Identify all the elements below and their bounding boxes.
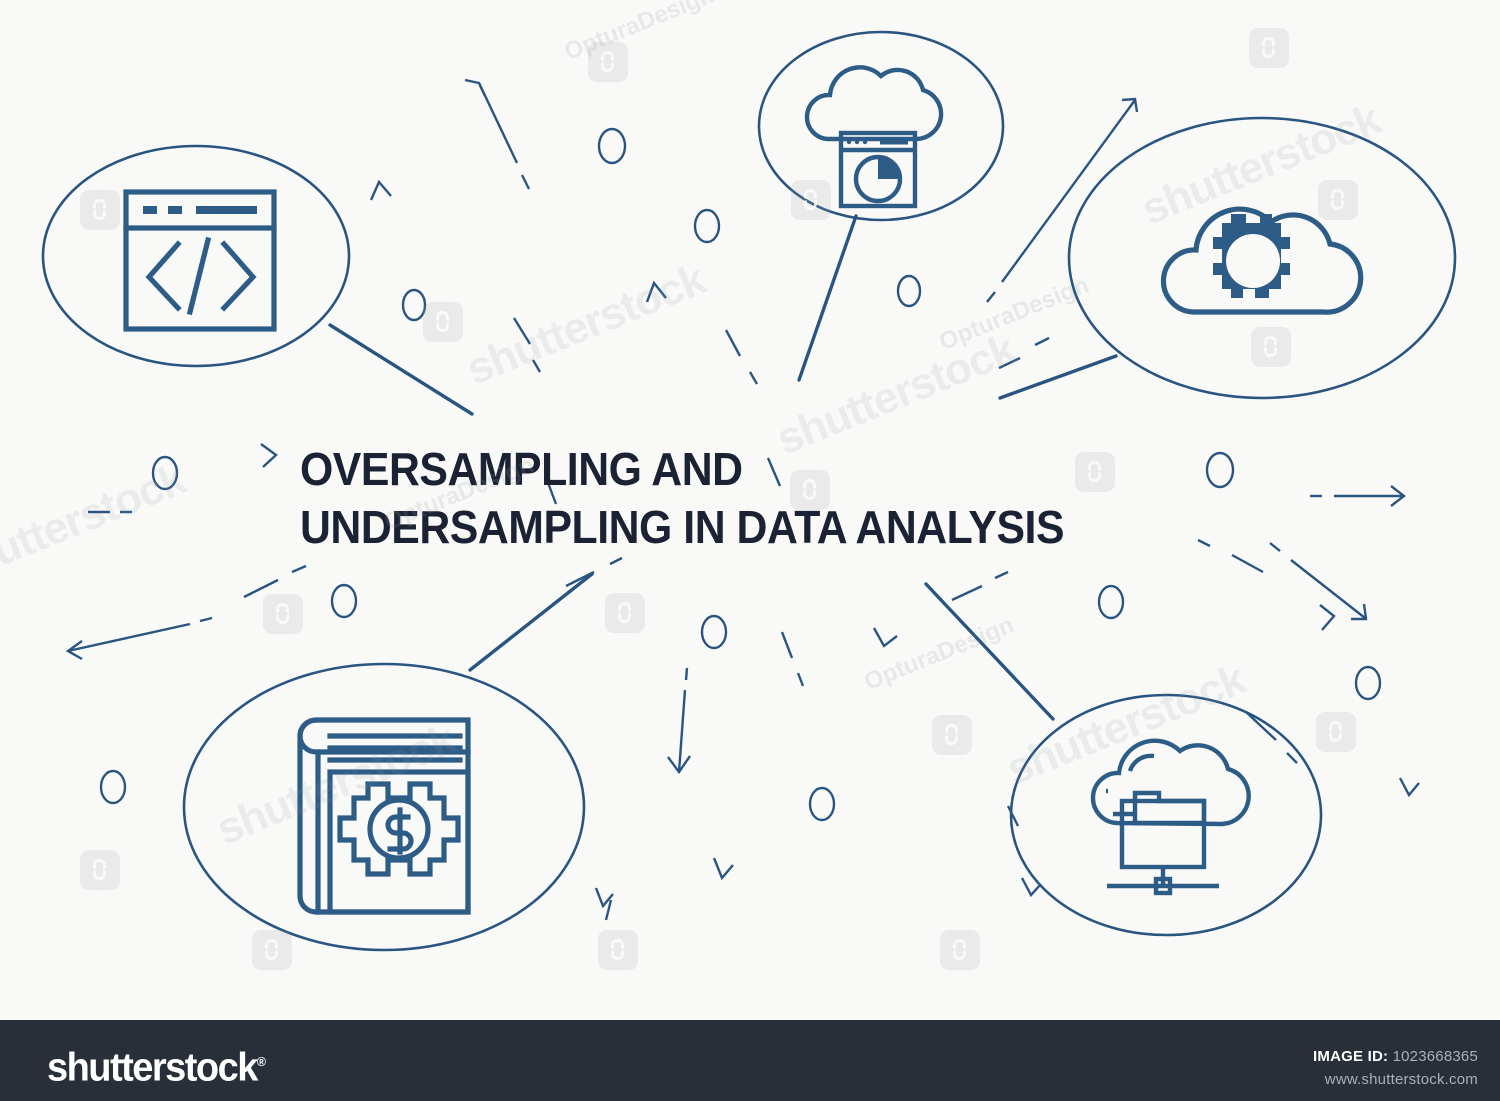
node-book-finance[interactable] [184,664,584,950]
connector-analytics-to-center [799,216,856,380]
cloud-analytics-icon [807,67,941,206]
arrow-down-right [1270,543,1366,619]
cloud-gear-icon [1163,209,1360,312]
logo-wordmark: shutterstock [47,1045,257,1089]
node-ellipse-cloud-analytics [759,32,1003,220]
node-cloud-analytics[interactable] [759,32,1003,220]
arrow-up-right-top [987,99,1137,302]
book-gear-dollar-icon [300,720,468,912]
illustration-svg: .el { fill:none; stroke:#2a5580; stroke-… [0,0,1500,1020]
arrow-left-bottom [68,618,212,659]
website-url: www.shutterstock.com [1313,1068,1478,1092]
arrow-down-center [668,668,690,772]
node-ellipse-cloud-storage [1011,695,1321,935]
arrow-right-mid [1310,486,1404,506]
node-cloud-settings[interactable] [1069,118,1455,398]
image-id-value: 1023668365 [1393,1048,1478,1065]
footer-bar: shutterstock® IMAGE ID: 1023668365 www.s… [0,1020,1500,1101]
cloud-folder-network-icon [1093,741,1249,893]
shutterstock-logo: shutterstock® [47,1040,266,1089]
illustration-canvas: .el { fill:none; stroke:#2a5580; stroke-… [0,0,1500,1020]
decorative-circles [101,129,1380,820]
decorative-arrows [68,80,1404,772]
node-cloud-storage[interactable] [1011,695,1321,935]
decorative-dashes [88,318,1297,920]
connector-storage-to-center [926,584,1053,719]
connector-code-to-center [330,325,472,414]
image-id-label: IMAGE ID: [1313,1048,1388,1065]
screenshot-root: .el { fill:none; stroke:#2a5580; stroke-… [0,0,1500,1101]
registered-mark: ® [257,1054,266,1069]
connector-settings-to-center [1000,356,1116,398]
node-ellipse-code-window [43,146,349,366]
arrow-up-left-top [465,80,529,189]
node-ellipse-cloud-settings [1069,118,1455,398]
code-window-icon [126,192,274,329]
footer-meta: IMAGE ID: 1023668365 www.shutterstock.co… [1313,1046,1478,1092]
image-id-row: IMAGE ID: 1023668365 [1313,1046,1478,1068]
node-code-window[interactable] [43,146,349,366]
connector-book-to-center [470,574,592,670]
